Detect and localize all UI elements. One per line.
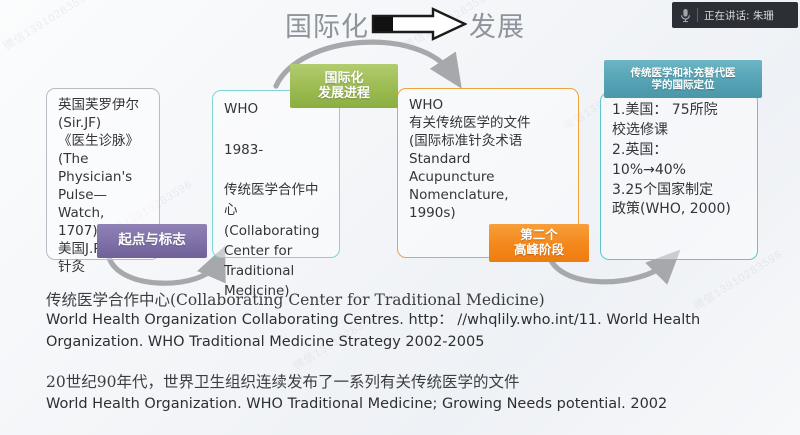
title-text-left: 国际化: [285, 5, 369, 44]
speaking-status-text: 正在讲话: 朱珊: [704, 8, 774, 23]
badge-second-peak-label: 第二个 高峰阶段: [514, 228, 564, 258]
box-global-position: 1.美国： 75所院 校选修课 2.英国： 10%→40% 3.25个国家制定 …: [600, 92, 758, 260]
badge-origin: 起点与标志: [97, 224, 207, 258]
badge-origin-label: 起点与标志: [118, 233, 186, 249]
badge-positioning-label: 传统医学和补充替代医 学的国际定位: [631, 67, 736, 92]
speaking-status-bar: 正在讲话: 朱珊: [672, 2, 798, 28]
divider: [697, 8, 698, 22]
box-who-1983: WHO 1983- 传统医学合作中心 (Collaborating Center…: [212, 90, 340, 258]
slide-title: 国际化 发展: [285, 2, 525, 46]
microphone-icon: [676, 6, 694, 24]
watermark: 微信13910283596: [0, 0, 95, 54]
block-arrow-right-icon: [371, 7, 467, 41]
footnote-line-3: Organization. WHO Traditional Medicine S…: [46, 332, 746, 353]
footnote-line-5: World Health Organization. WHO Tradition…: [46, 394, 746, 415]
footnote-line-4: 20世纪90年代，世界卫生组织连续发布了一系列有关传统医学的文件: [46, 370, 746, 392]
badge-process-label: 国际化 发展进程: [318, 71, 370, 102]
footnote-line-2: World Health Organization Collaborating …: [46, 310, 736, 331]
footnote-line-1: 传统医学合作中心(Collaborating Center for Tradit…: [46, 288, 746, 310]
badge-process: 国际化 发展进程: [290, 64, 398, 108]
badge-positioning: 传统医学和补充替代医 学的国际定位: [604, 60, 762, 98]
slide-canvas: 微信13910283596 微信13910283596 微信1391028359…: [0, 0, 800, 435]
badge-second-peak: 第二个 高峰阶段: [489, 224, 589, 262]
title-text-right: 发展: [469, 5, 525, 44]
